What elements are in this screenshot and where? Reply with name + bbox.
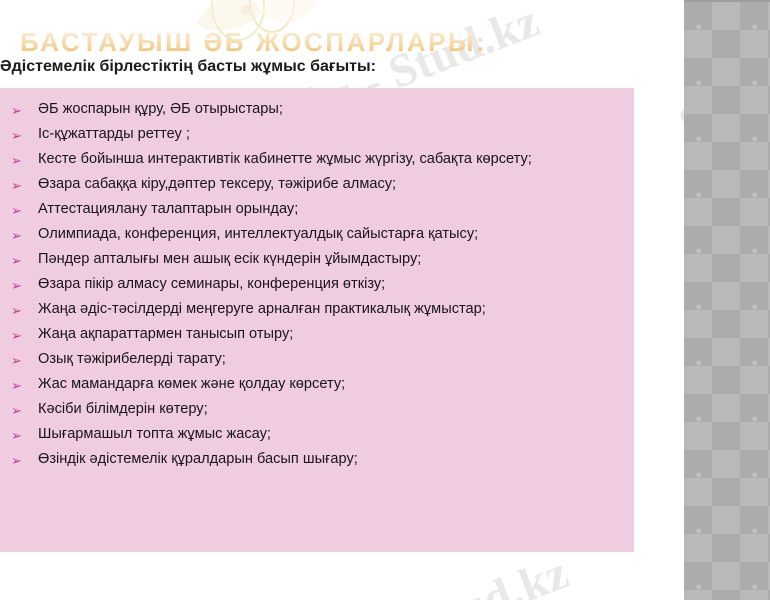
sparkle-icon: ✦ (694, 584, 703, 593)
sparkle-icon: ✦ (694, 24, 703, 33)
list-item: ➢Кесте бойынша интерактивтік кабинетте ж… (0, 149, 628, 170)
list-item-label: Жаңа ақпараттармен танысып отыру; (38, 326, 293, 342)
list-item: ➢Пәндер апталығы мен ашық есік күндерін … (0, 249, 628, 270)
bullet-arrow-icon: ➢ (11, 400, 25, 421)
watermark-stud-kz: Stud.kz (411, 546, 576, 600)
list-item: ➢Шығармашыл топта жұмыс жасау; (0, 424, 628, 445)
list-item-label: Өзара сабаққа кіру,дәптер тексеру, тәжір… (38, 176, 396, 192)
sparkle-icon: ✦ (694, 136, 703, 145)
checkered-background-strip: ✦✦✦✦✦✦✦✦✦✦✦✦✦✦✦✦✦✦✦✦✦✦✦✦ (684, 0, 770, 600)
list-item-label: Жас мамандарға көмек және қолдау көрсету… (38, 376, 345, 392)
list-item: ➢ӘБ жоспарын құру, ӘБ отырыстары; (0, 99, 628, 120)
bullet-arrow-icon: ➢ (11, 375, 25, 396)
bullet-list: ➢ӘБ жоспарын құру, ӘБ отырыстары;➢Іс-құж… (0, 88, 634, 470)
sparkle-icon: ✦ (694, 248, 703, 257)
list-item-label: Пәндер апталығы мен ашық есік күндерін ұ… (38, 251, 421, 267)
list-item-label: Аттестациялану талаптарын орындау; (38, 201, 298, 217)
sparkle-icon: ✦ (750, 360, 759, 369)
bullet-arrow-icon: ➢ (11, 225, 25, 246)
sparkle-icon: ✦ (750, 24, 759, 33)
sparkle-icon: ✦ (694, 360, 703, 369)
list-item-label: ӘБ жоспарын құру, ӘБ отырыстары; (38, 101, 283, 117)
list-item: ➢Өзіндік әдістемелік құралдарын басып шы… (0, 449, 628, 470)
list-item: ➢Жаңа әдіс-тәсілдерді меңгеруге арналған… (0, 299, 628, 320)
list-item-label: Жаңа әдіс-тәсілдерді меңгеруге арналған … (38, 301, 486, 317)
bullet-arrow-icon: ➢ (11, 175, 25, 196)
sparkle-icon: ✦ (694, 304, 703, 313)
bullet-arrow-icon: ➢ (11, 425, 25, 446)
bullet-arrow-icon: ➢ (11, 350, 25, 371)
content-panel: ➢ӘБ жоспарын құру, ӘБ отырыстары;➢Іс-құж… (0, 88, 634, 552)
list-item-label: Іс-құжаттарды реттеу ; (38, 126, 190, 142)
bullet-arrow-icon: ➢ (11, 200, 25, 221)
sparkle-icon: ✦ (750, 136, 759, 145)
sparkle-icon: ✦ (750, 416, 759, 425)
list-item: ➢Олимпиада, конференция, интеллектуалдық… (0, 224, 628, 245)
list-item-label: Кесте бойынша интерактивтік кабинетте жұ… (38, 151, 532, 167)
sparkle-icon: ✦ (750, 528, 759, 537)
sparkle-icon: ✦ (750, 472, 759, 481)
sparkle-icon: ✦ (694, 80, 703, 89)
list-item: ➢Озық тәжірибелерді тарату; (0, 349, 628, 370)
slide-canvas: kz - Stud.kz Stud.kz Stud.kz Stud.kz Stu… (0, 0, 770, 600)
list-item-label: Кәсіби білімдерін көтеру; (38, 401, 208, 417)
sparkle-icon: ✦ (694, 472, 703, 481)
bullet-arrow-icon: ➢ (11, 100, 25, 121)
bullet-arrow-icon: ➢ (11, 150, 25, 171)
list-item: ➢Өзара сабаққа кіру,дәптер тексеру, тәжі… (0, 174, 628, 195)
sparkle-icon: ✦ (750, 304, 759, 313)
sparkle-icon: ✦ (694, 416, 703, 425)
sparkle-icon: ✦ (750, 192, 759, 201)
list-item-label: Өзара пікір алмасу семинары, конференция… (38, 276, 385, 292)
slide-title: БАСТАУЫШ ӘБ ЖОСПАРЛАРЫ: (20, 27, 620, 58)
list-item: ➢Жаңа ақпараттармен танысып отыру; (0, 324, 628, 345)
list-item: ➢Іс-құжаттарды реттеу ; (0, 124, 628, 145)
sparkle-icon: ✦ (694, 192, 703, 201)
list-item: ➢Өзара пікір алмасу семинары, конференци… (0, 274, 628, 295)
bullet-arrow-icon: ➢ (11, 450, 25, 471)
bullet-arrow-icon: ➢ (11, 300, 25, 321)
list-item-label: Озық тәжірибелерді тарату; (38, 351, 226, 367)
bullet-arrow-icon: ➢ (11, 125, 25, 146)
sparkle-icon: ✦ (750, 248, 759, 257)
list-item-label: Шығармашыл топта жұмыс жасау; (38, 426, 271, 442)
sparkle-icon: ✦ (750, 80, 759, 89)
list-item: ➢Кәсіби білімдерін көтеру; (0, 399, 628, 420)
sparkle-icon: ✦ (750, 584, 759, 593)
list-item-label: Өзіндік әдістемелік құралдарын басып шығ… (38, 451, 358, 467)
bullet-arrow-icon: ➢ (11, 250, 25, 271)
bullet-arrow-icon: ➢ (11, 325, 25, 346)
bullet-arrow-icon: ➢ (11, 275, 25, 296)
slide-subtitle: Әдістемелік бірлестіктің басты жұмыс бағ… (0, 58, 376, 76)
sparkle-icon: ✦ (694, 528, 703, 537)
list-item: ➢Аттестациялану талаптарын орындау; (0, 199, 628, 220)
list-item: ➢Жас мамандарға көмек және қолдау көрсет… (0, 374, 628, 395)
list-item-label: Олимпиада, конференция, интеллектуалдық … (38, 226, 478, 242)
